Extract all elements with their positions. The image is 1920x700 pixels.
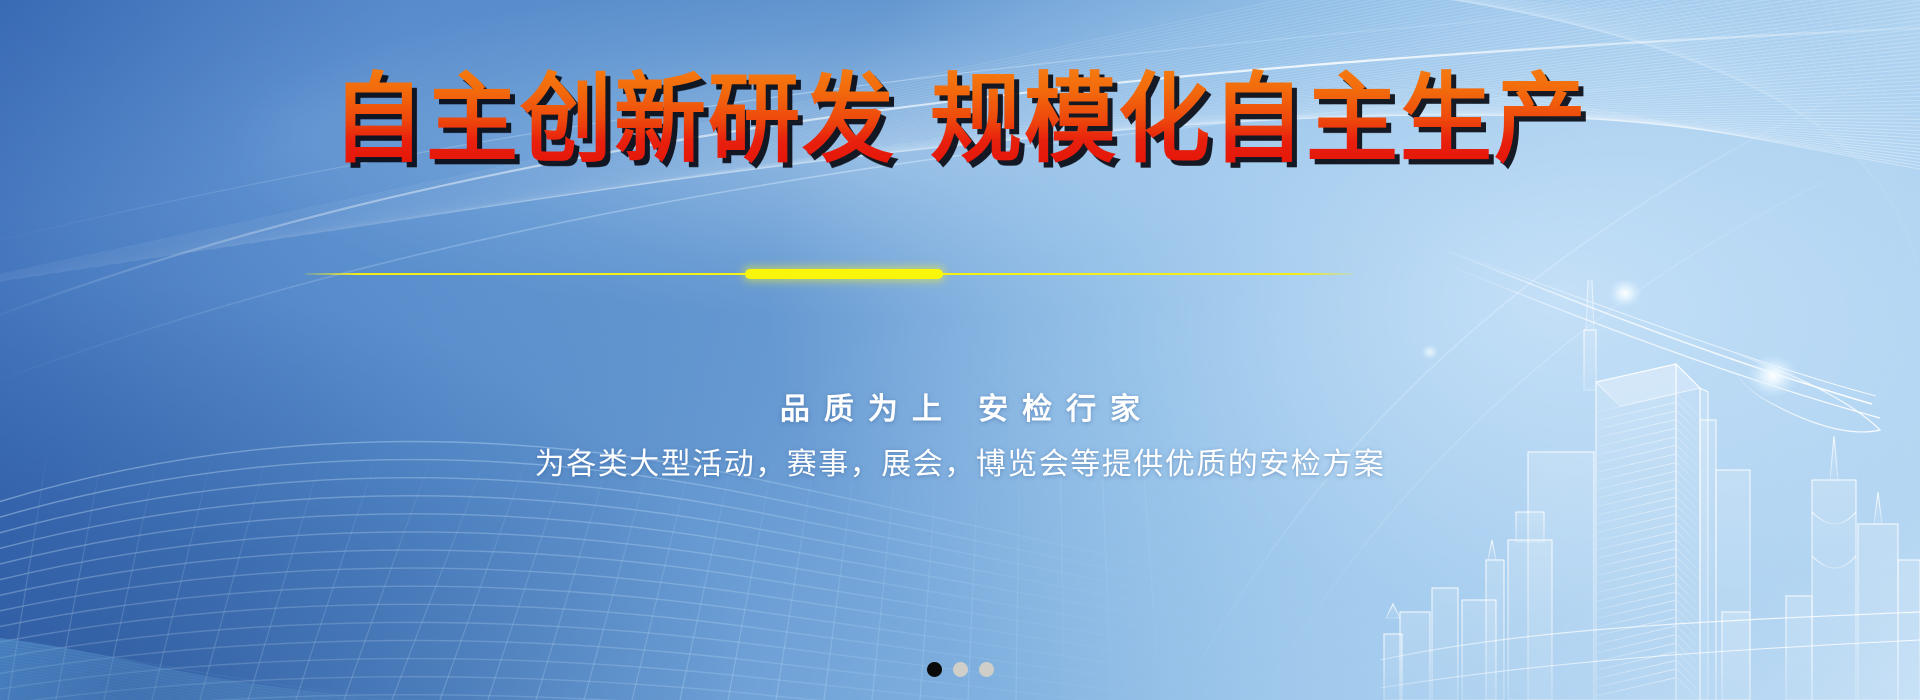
title-container: 自主创新研发 规模化自主生产 [0,72,1920,169]
yellow-divider [305,268,1353,280]
carousel-dot-1[interactable] [927,662,942,677]
carousel-dots[interactable] [0,662,1920,677]
subtitle-container: 品质为上 安检行家 为各类大型活动，赛事，展会，博览会等提供优质的安检方案 [0,390,1920,485]
carousel-dot-2[interactable] [953,662,968,677]
divider-center-block [745,269,943,279]
subtitle-secondary: 为各类大型活动，赛事，展会，博览会等提供优质的安检方案 [0,445,1920,486]
carousel-dot-3[interactable] [979,662,994,677]
hero-banner: 自主创新研发 规模化自主生产 品质为上 安检行家 为各类大型活动，赛事，展会，博… [0,0,1920,700]
main-title: 自主创新研发 规模化自主生产 [332,69,1588,171]
subtitle-primary: 品质为上 安检行家 [0,390,1920,431]
